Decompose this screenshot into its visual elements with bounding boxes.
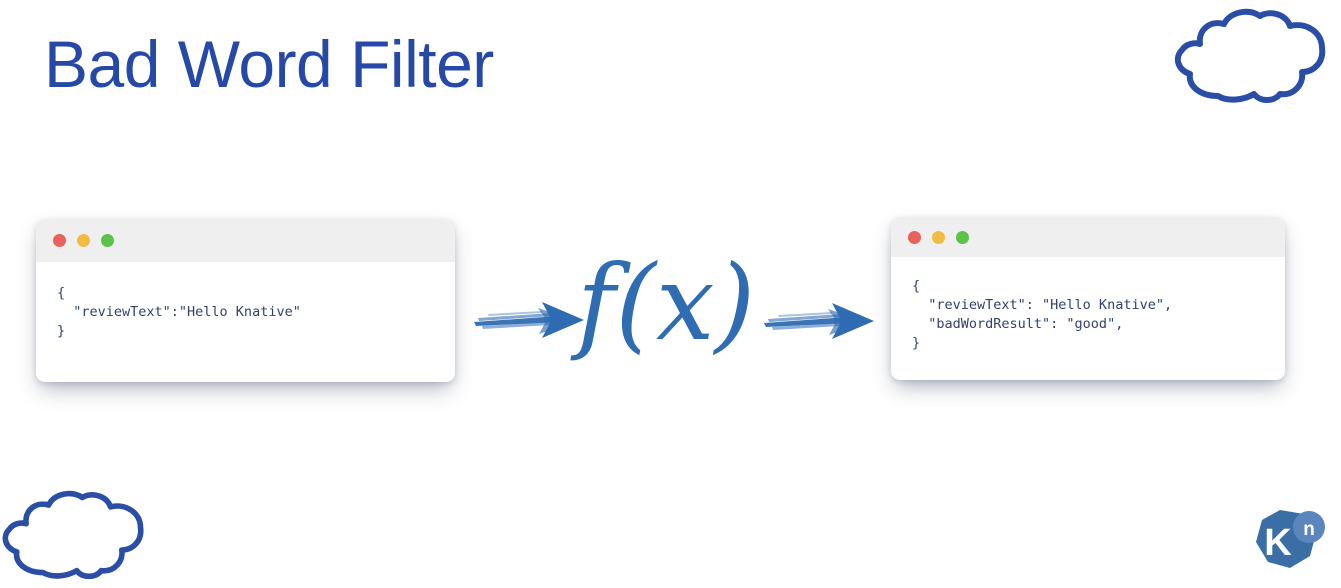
arrow-function-to-response <box>762 293 880 347</box>
knative-logo-svg: K n <box>1252 508 1326 580</box>
cloud-icon <box>1170 8 1330 104</box>
minimize-dot[interactable] <box>77 234 90 247</box>
request-payload-code: { "reviewText":"Hello Knative" } <box>36 262 455 341</box>
cloud-icon-svg <box>0 487 148 583</box>
close-dot[interactable] <box>908 231 921 244</box>
maximize-dot[interactable] <box>101 234 114 247</box>
cloud-icon-svg <box>1170 8 1330 104</box>
cloud-icon <box>0 487 148 583</box>
request-payload-window: { "reviewText":"Hello Knative" } <box>36 219 455 382</box>
knative-logo-superscript: n <box>1303 519 1315 540</box>
maximize-dot[interactable] <box>956 231 969 244</box>
knative-logo-letter: K <box>1264 522 1292 564</box>
function-label: f(x) <box>566 238 766 368</box>
close-dot[interactable] <box>53 234 66 247</box>
window-titlebar <box>891 217 1285 257</box>
page-title: Bad Word Filter <box>44 28 494 101</box>
minimize-dot[interactable] <box>932 231 945 244</box>
response-payload-code: { "reviewText": "Hello Knative", "badWor… <box>891 257 1285 353</box>
arrow-right-icon <box>762 293 880 347</box>
window-titlebar <box>36 219 455 262</box>
knative-logo: K n <box>1252 508 1326 580</box>
response-payload-window: { "reviewText": "Hello Knative", "badWor… <box>891 217 1285 380</box>
